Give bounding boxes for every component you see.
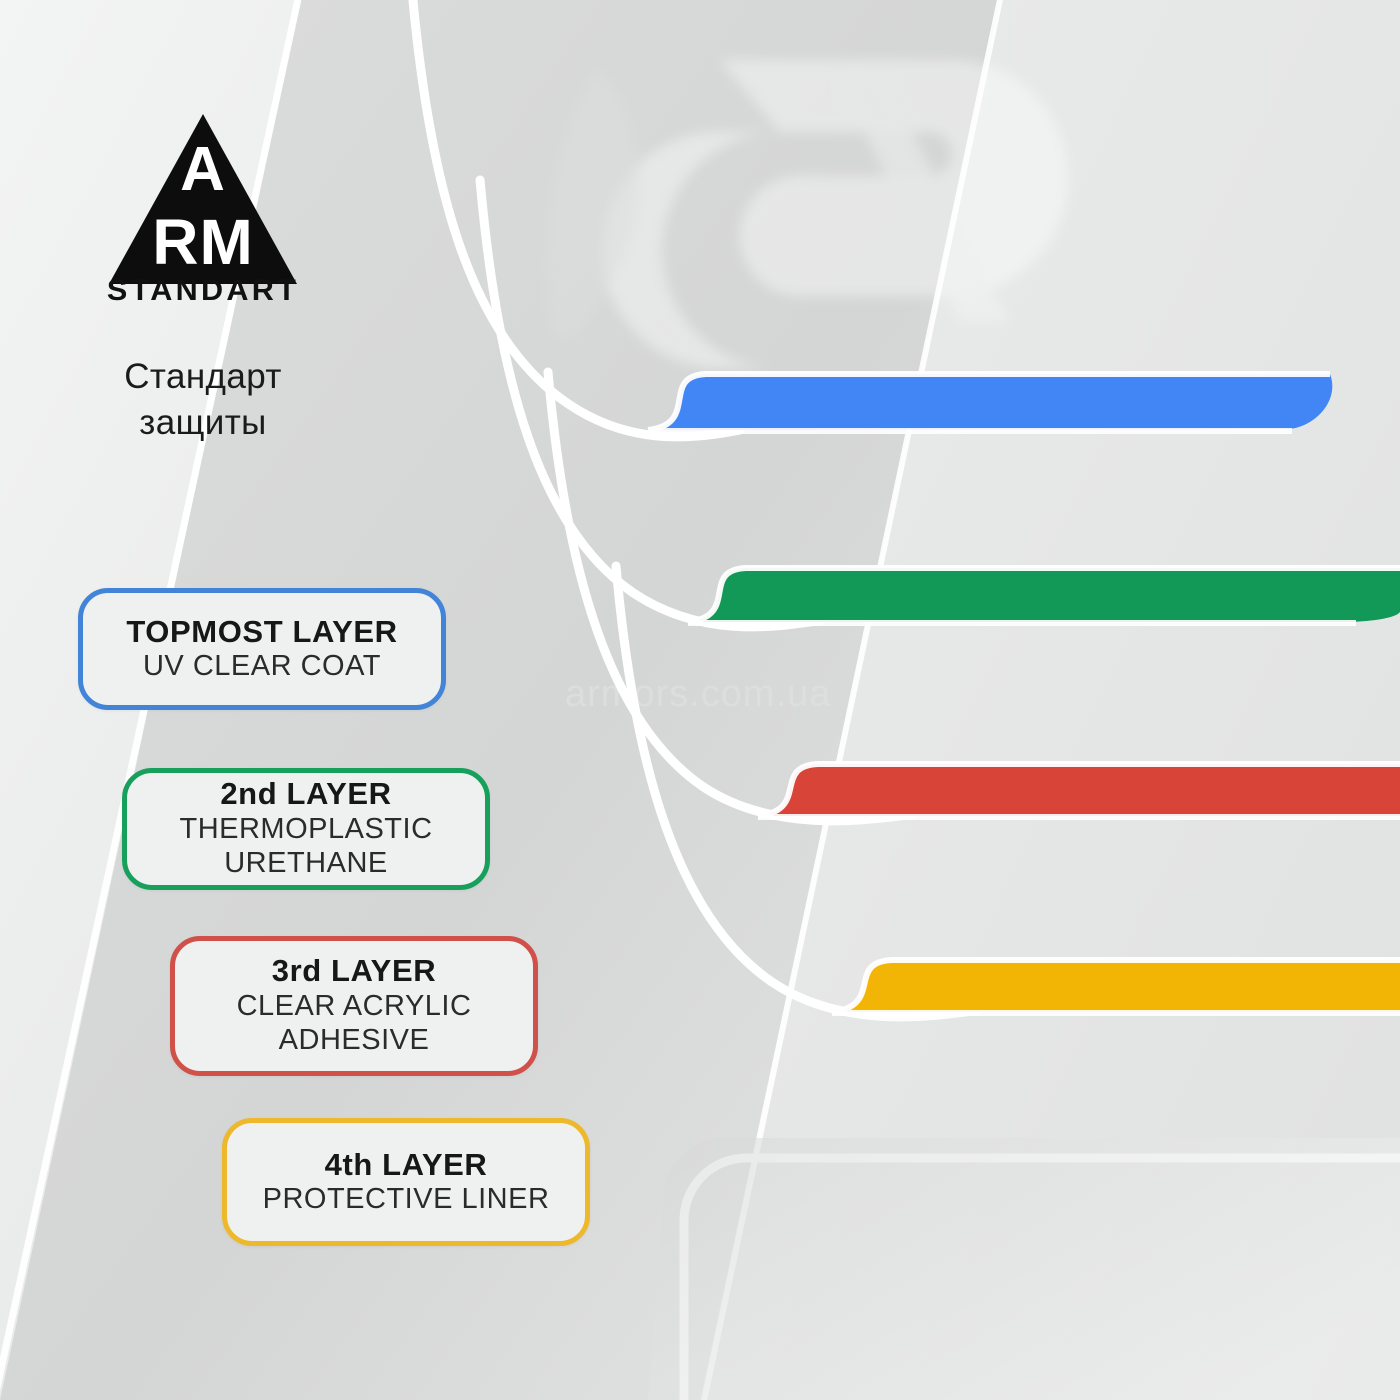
logo-letter-a: A: [180, 135, 226, 204]
label-layer-2[interactable]: 2nd LAYER THERMOPLASTIC URETHANE: [122, 768, 490, 890]
infographic-canvas: armors.com.ua: [0, 0, 1400, 1400]
strip-layer-4: [832, 960, 1400, 1013]
label-layer-4-desc-1: PROTECTIVE LINER: [263, 1182, 550, 1216]
label-layer-4-title: 4th LAYER: [325, 1148, 488, 1183]
label-layer-2-desc-1: THERMOPLASTIC: [179, 812, 432, 846]
strip-fill-layer-1: [648, 374, 1332, 430]
brand-tagline: Стандарт защиты: [78, 354, 328, 446]
label-layer-3-title: 3rd LAYER: [272, 954, 436, 989]
strip-layer-1: [648, 374, 1332, 431]
brand-logo: A RM STANDART Стандарт защиты: [78, 112, 328, 446]
strip-fill-layer-2: [688, 568, 1400, 622]
label-layer-1-title: TOPMOST LAYER: [126, 615, 397, 650]
label-layer-2-title: 2nd LAYER: [220, 777, 391, 812]
strip-layer-2: [688, 568, 1400, 623]
label-layer-2-desc-2: URETHANE: [224, 846, 388, 880]
label-layer-3[interactable]: 3rd LAYER CLEAR ACRYLIC ADHESIVE: [170, 936, 538, 1076]
label-layer-3-desc-2: ADHESIVE: [279, 1023, 430, 1057]
tagline-line-1: Стандарт: [78, 354, 328, 400]
strip-layer-3: [758, 764, 1400, 817]
strip-fill-layer-4: [832, 960, 1400, 1012]
triangle-logo-icon: A RM: [107, 112, 299, 288]
label-layer-4[interactable]: 4th LAYER PROTECTIVE LINER: [222, 1118, 590, 1246]
label-layer-1[interactable]: TOPMOST LAYER UV CLEAR COAT: [78, 588, 446, 710]
tagline-line-2: защиты: [78, 400, 328, 446]
label-layer-1-desc-1: UV CLEAR COAT: [143, 649, 381, 683]
brand-wordmark: STANDART: [76, 274, 331, 308]
label-layer-3-desc-1: CLEAR ACRYLIC: [237, 989, 472, 1023]
logo-letters-rm: RM: [152, 206, 254, 278]
strip-fill-layer-3: [758, 764, 1400, 816]
